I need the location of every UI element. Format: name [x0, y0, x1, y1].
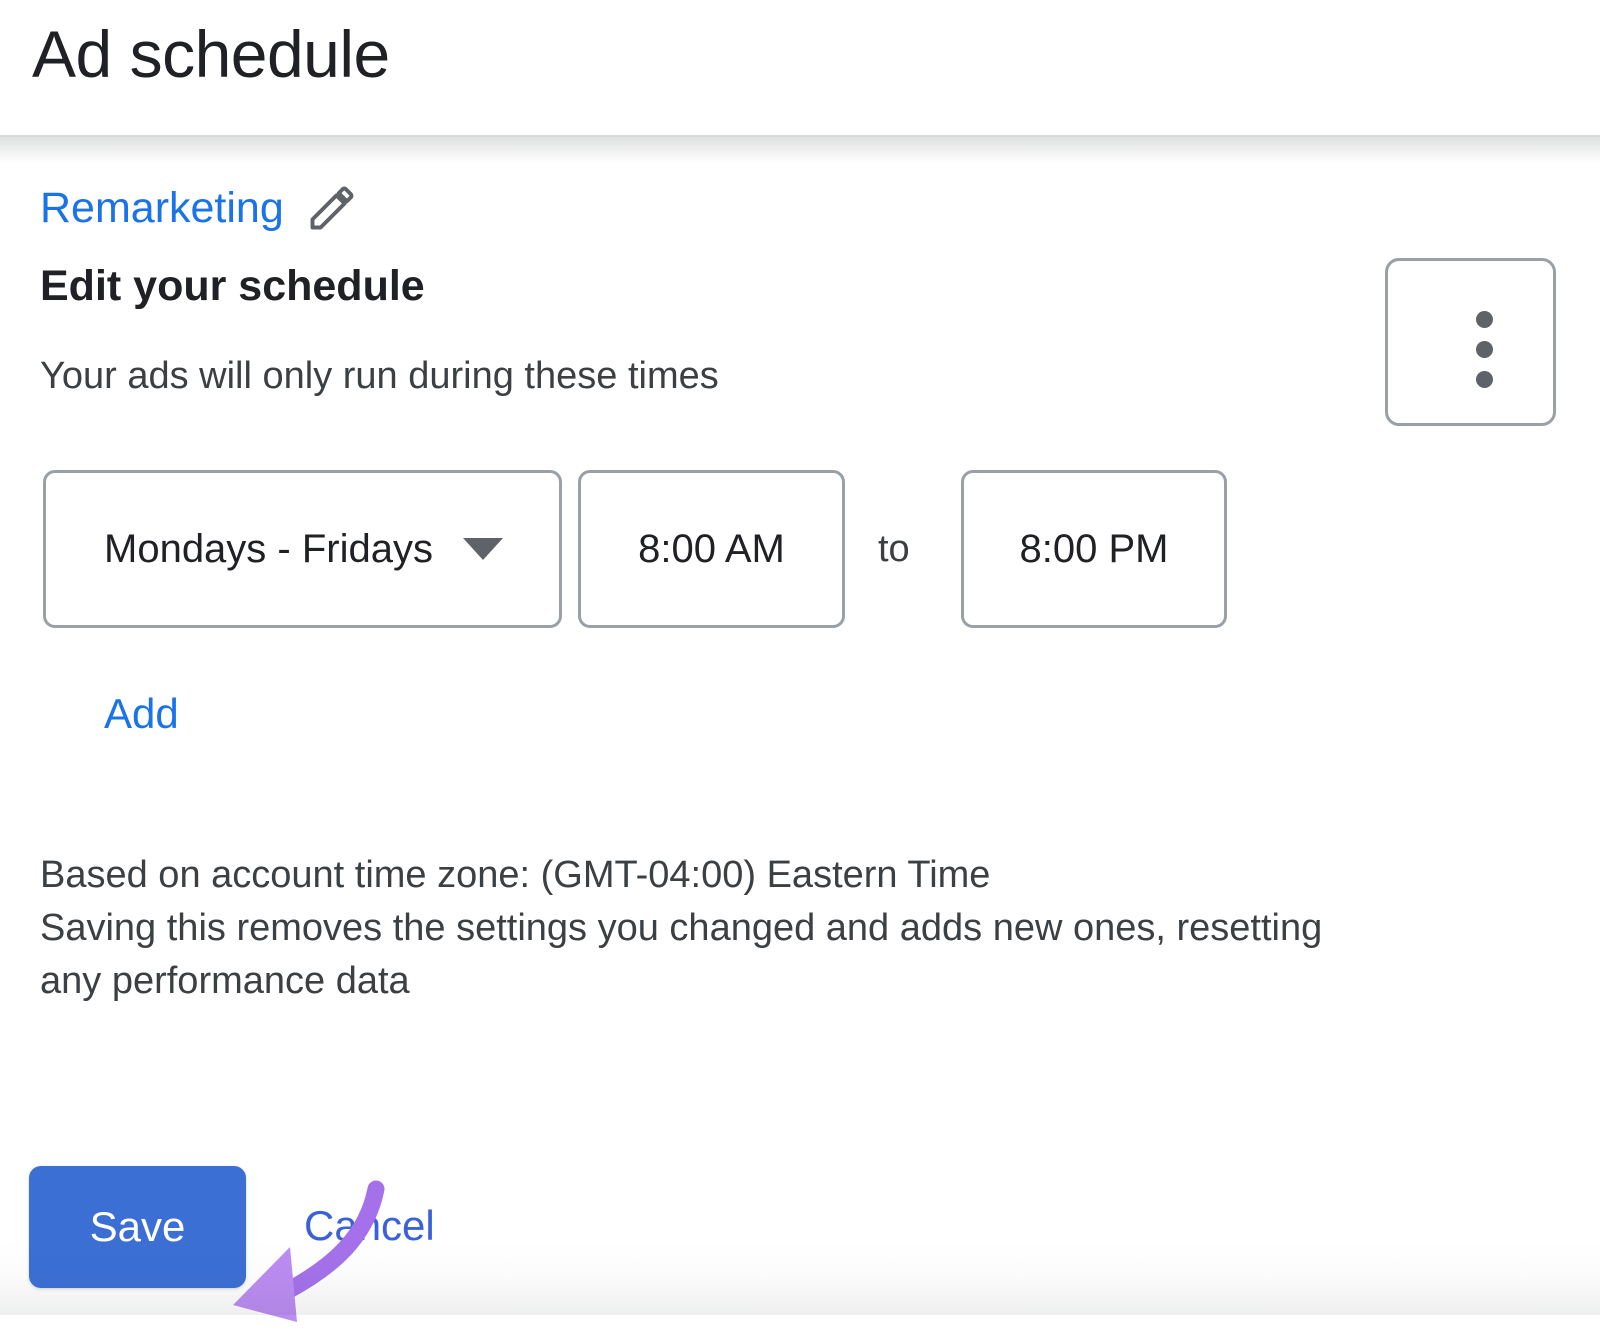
footnotes: Based on account time zone: (GMT-04:00) …	[40, 849, 1370, 1008]
pencil-icon[interactable]	[306, 182, 358, 234]
campaign-row: Remarketing	[40, 182, 358, 234]
chevron-down-icon	[463, 538, 503, 560]
dot-1	[1476, 311, 1493, 328]
day-range-value: Mondays - Fridays	[104, 525, 433, 573]
app-header: Ad schedule	[0, 0, 1600, 137]
dot-2	[1476, 341, 1493, 358]
end-time-input[interactable]: 8:00 PM	[961, 470, 1227, 628]
end-time-value: 8:00 PM	[1020, 525, 1169, 573]
time-range-separator: to	[878, 526, 910, 572]
start-time-value: 8:00 AM	[638, 525, 785, 573]
campaign-link[interactable]: Remarketing	[40, 182, 284, 234]
cancel-link[interactable]: Cancel	[304, 1181, 435, 1271]
section-subtext: Your ads will only run during these time…	[40, 352, 719, 400]
page-title: Ad schedule	[32, 12, 390, 96]
section-heading: Edit your schedule	[40, 259, 425, 313]
dot-3	[1476, 371, 1493, 388]
timezone-note: Based on account time zone: (GMT-04:00) …	[40, 849, 1370, 902]
add-schedule-link[interactable]: Add	[104, 688, 179, 740]
save-button[interactable]: Save	[29, 1166, 246, 1288]
schedule-panel: Remarketing Edit your schedule Your ads …	[0, 137, 1600, 1315]
overflow-menu-button[interactable]	[1385, 258, 1556, 426]
day-range-select[interactable]: Mondays - Fridays	[43, 470, 562, 628]
reset-warning-note: Saving this removes the settings you cha…	[40, 902, 1350, 1008]
more-vert-icon	[1476, 311, 1493, 388]
start-time-input[interactable]: 8:00 AM	[578, 470, 845, 628]
